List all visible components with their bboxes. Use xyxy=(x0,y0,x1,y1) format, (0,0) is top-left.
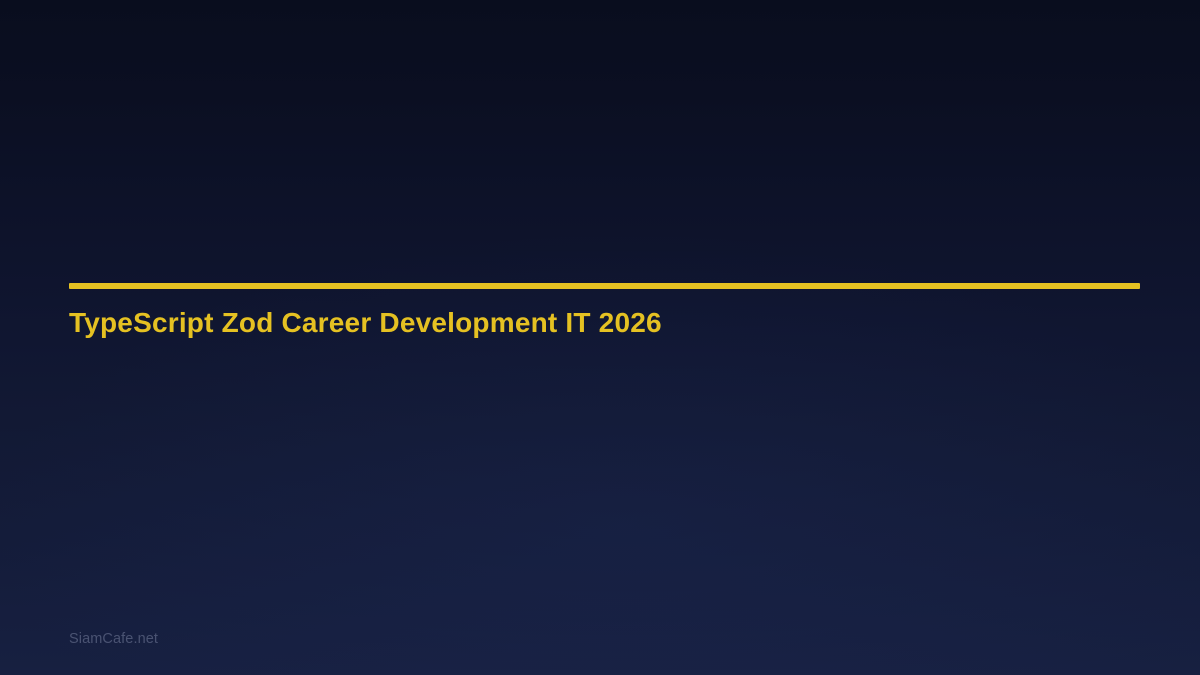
page-title: TypeScript Zod Career Development IT 202… xyxy=(69,305,662,341)
title-accent-bar xyxy=(69,283,1140,289)
presentation-slide: TypeScript Zod Career Development IT 202… xyxy=(0,0,1200,675)
footer-brand-label: SiamCafe.net xyxy=(69,630,158,648)
